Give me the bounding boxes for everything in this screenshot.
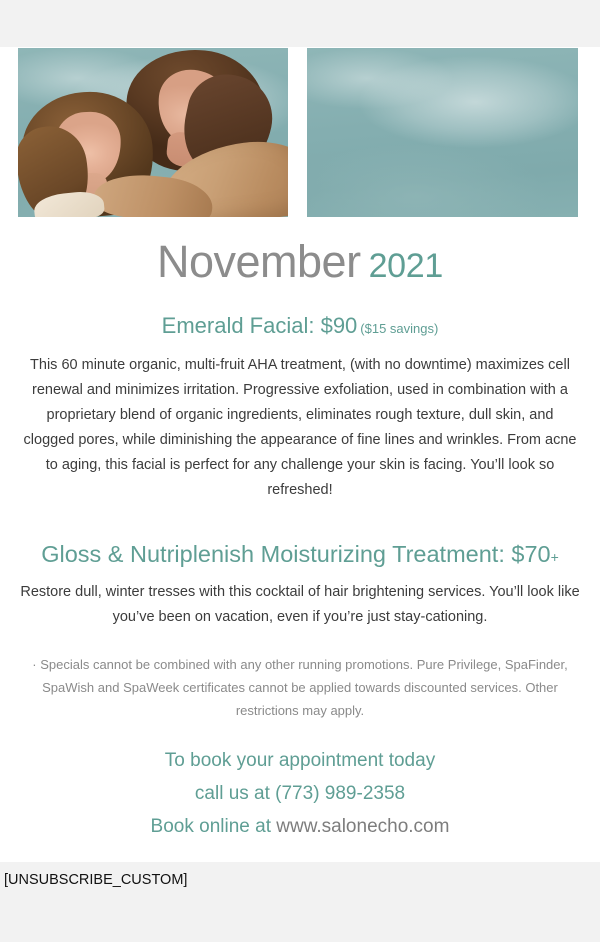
cta-website-prefix: Book online at [151, 816, 277, 837]
offer-title-facial: Emerald Facial: $90($15 savings) [0, 284, 600, 339]
cta-line-phone: call us at (773) 989-2358 [0, 777, 600, 810]
offer-description-facial: This 60 minute organic, multi-fruit AHA … [0, 339, 600, 503]
unsubscribe-bar: [UNSUBSCRIBE_CUSTOM] [0, 866, 600, 890]
hero-image-women [18, 48, 288, 217]
offer-title-gloss-text: Gloss & Nutriplenish Moisturizing Treatm… [41, 541, 550, 567]
page-title: November2021 [0, 217, 600, 284]
cta-line-website: Book online at www.salonecho.com [0, 810, 600, 843]
offer-title-facial-text: Emerald Facial: $90 [162, 313, 358, 338]
title-year: 2021 [369, 247, 443, 285]
offer-title-gloss-plus: + [551, 549, 559, 565]
email-card: November2021 Emerald Facial: $90($15 sav… [0, 47, 600, 862]
photo-sky-backdrop-right [307, 48, 578, 217]
title-month: November [157, 236, 361, 287]
hero-image-row [0, 47, 600, 217]
fine-print-disclaimer: · Specials cannot be combined with any o… [0, 630, 600, 722]
hero-image-sky [307, 48, 578, 217]
unsubscribe-link[interactable]: [UNSUBSCRIBE_CUSTOM] [4, 872, 187, 888]
offer-savings-badge: ($15 savings) [360, 321, 438, 336]
offer-description-gloss: Restore dull, winter tresses with this c… [0, 569, 600, 630]
website-link[interactable]: www.salonecho.com [276, 816, 449, 837]
photo-subjects [18, 48, 288, 217]
booking-cta-block: To book your appointment today call us a… [0, 722, 600, 843]
offer-title-gloss: Gloss & Nutriplenish Moisturizing Treatm… [0, 540, 600, 568]
section-spacer [0, 503, 600, 540]
cta-line-book: To book your appointment today [0, 744, 600, 777]
email-content: November2021 Emerald Facial: $90($15 sav… [0, 217, 600, 843]
